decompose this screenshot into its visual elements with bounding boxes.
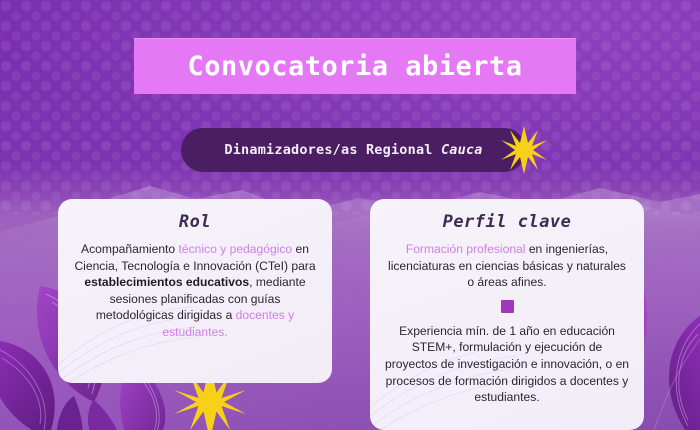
text-run: Experiencia mín. de 1 año en educación S…	[385, 324, 629, 404]
text-run: Acompañamiento	[81, 242, 178, 256]
card-rol-body: Acompañamiento técnico y pedagógico en C…	[72, 241, 318, 341]
card-perfil-title: Perfil clave	[384, 212, 630, 232]
divider-square	[501, 300, 514, 313]
card-rol: Rol Acompañamiento técnico y pedagógico …	[58, 199, 332, 383]
text-run-highlight: Formación profesional	[406, 242, 526, 256]
card-perfil-content: Perfil clave Formación profesional en in…	[370, 212, 644, 406]
badge-pill: Dinamizadores/as Regional Cauca	[181, 128, 526, 172]
card-perfil-clave: Perfil clave Formación profesional en in…	[370, 199, 644, 430]
badge-label: Dinamizadores/as Regional Cauca	[224, 142, 482, 158]
card-rol-content: Rol Acompañamiento técnico y pedagógico …	[58, 212, 332, 341]
badge-pill-wrapper: Dinamizadores/as Regional Cauca	[181, 128, 526, 172]
starburst-icon	[499, 125, 549, 175]
title-banner: Convocatoria abierta	[134, 38, 576, 94]
text-run-bold: establecimientos educativos	[84, 275, 249, 289]
card-perfil-body-2: Experiencia mín. de 1 año en educación S…	[384, 323, 630, 406]
badge-prefix: Dinamizadores/as Regional	[224, 142, 441, 158]
text-run-highlight: técnico y pedagógico	[179, 242, 293, 256]
card-rol-title: Rol	[72, 212, 318, 232]
badge-region: Cauca	[441, 142, 483, 158]
card-perfil-body-1: Formación profesional en ingenierías, li…	[384, 241, 630, 291]
page-title: Convocatoria abierta	[187, 51, 522, 82]
poster-canvas: Convocatoria abierta Dinamizadores/as Re…	[0, 0, 700, 430]
